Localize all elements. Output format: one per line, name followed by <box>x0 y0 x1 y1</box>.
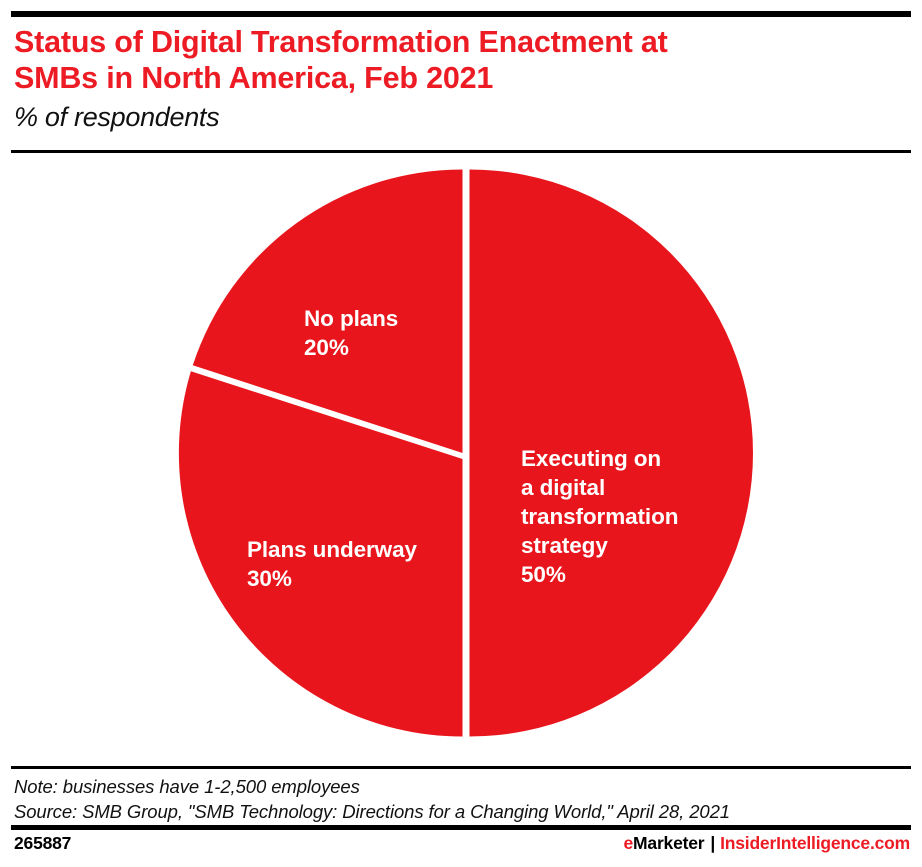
page-title: Status of Digital Transformation Enactme… <box>14 24 904 96</box>
chart-subtitle: % of respondents <box>14 100 904 134</box>
pie-label-executing: Executing on a digital transformation st… <box>521 444 678 589</box>
pie-label-no-plans: No plans 20% <box>304 304 398 362</box>
chart-source: Source: SMB Group, "SMB Technology: Dire… <box>14 799 910 824</box>
brand-emarketer-name: Marketer <box>633 833 704 853</box>
chart-card: Status of Digital Transformation Enactme… <box>0 0 922 867</box>
header-bottom-rule <box>11 150 911 153</box>
header-block: Status of Digital Transformation Enactme… <box>14 24 904 134</box>
footer-bottom-rule <box>11 825 911 830</box>
brand-emarketer-e: e <box>623 833 633 853</box>
footer-bar: 265887 eMarketer|InsiderIntelligence.com <box>14 833 910 861</box>
footer-notes: Note: businesses have 1-2,500 employees … <box>14 774 910 824</box>
chart-plot-area: No plans 20% Plans underway 30% Executin… <box>0 156 922 760</box>
pie-chart <box>0 156 922 760</box>
header-top-rule <box>11 11 911 17</box>
chart-id: 265887 <box>14 833 71 854</box>
brand-insider-intelligence[interactable]: InsiderIntelligence.com <box>720 833 910 853</box>
brand-lockup: eMarketer|InsiderIntelligence.com <box>623 833 910 854</box>
chart-note: Note: businesses have 1-2,500 employees <box>14 774 910 799</box>
brand-divider: | <box>704 833 720 853</box>
footer-top-rule <box>11 766 911 769</box>
pie-label-plans-underway: Plans underway 30% <box>247 535 417 593</box>
